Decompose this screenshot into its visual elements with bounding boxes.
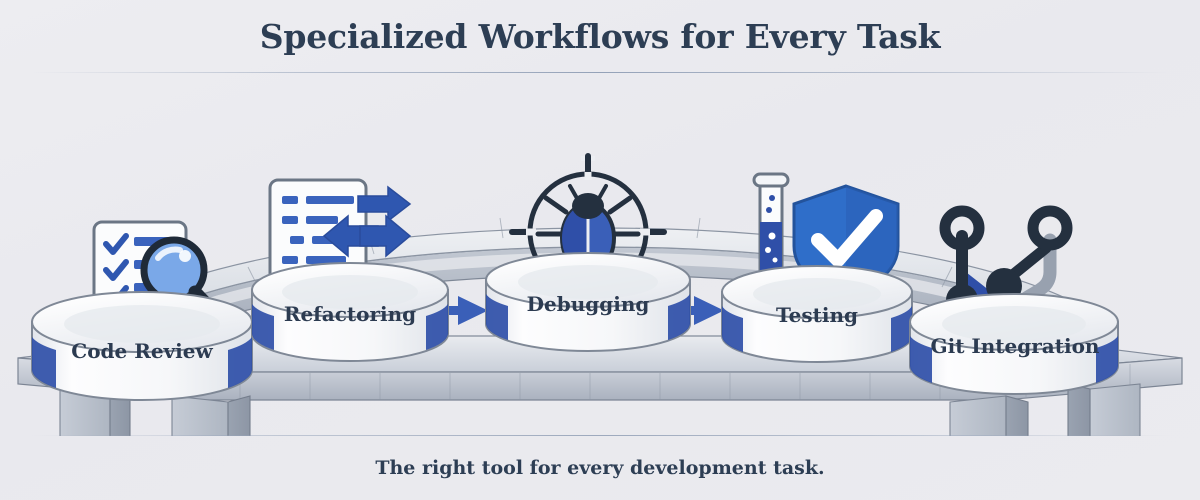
diagram-canvas: Specialized Workflows for Every Task [0, 0, 1200, 500]
workflow-scene: Code Review [0, 72, 1200, 436]
testing-pedestal[interactable] [722, 266, 912, 362]
code-review-pedestal-group[interactable] [22, 182, 262, 422]
footer: The right tool for every development tas… [0, 436, 1200, 500]
debugging-pedestal[interactable] [486, 253, 690, 351]
refactoring-pedestal[interactable] [252, 263, 448, 361]
header: Specialized Workflows for Every Task [0, 0, 1200, 72]
git-integration-pedestal[interactable] [910, 294, 1118, 394]
git-integration-pedestal-group[interactable] [900, 176, 1130, 416]
footer-caption: The right tool for every development tas… [375, 457, 824, 479]
page-title: Specialized Workflows for Every Task [260, 17, 941, 56]
testing-pedestal-group[interactable] [712, 160, 922, 390]
debugging-pedestal-group[interactable] [478, 150, 698, 380]
refactoring-pedestal-group[interactable] [240, 160, 460, 390]
code-review-pedestal[interactable] [32, 292, 252, 400]
